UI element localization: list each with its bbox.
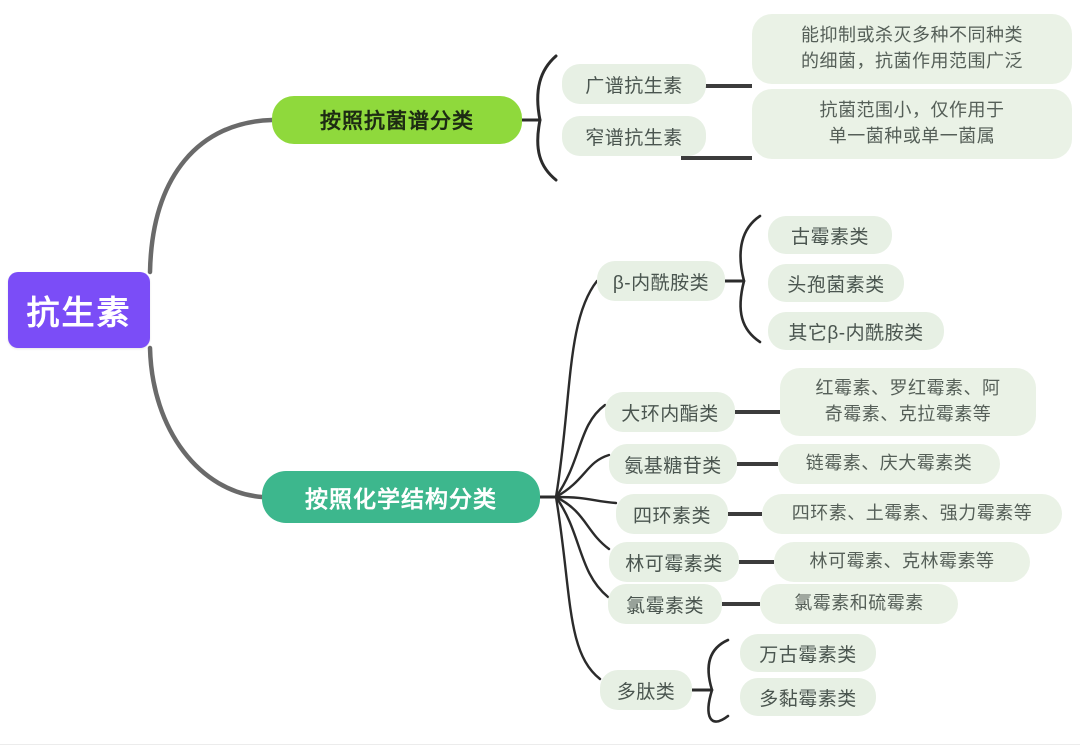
- leaf-broad-spectrum-detail[interactable]: 能抑制或杀灭多种不同种类 的细菌，抗菌作用范围广泛: [752, 14, 1072, 84]
- leaf-line: 抗菌范围小，仅作用于: [820, 98, 1005, 124]
- leaf-line: 林可霉素、克林霉素等: [810, 549, 995, 575]
- leaf-line: 氯霉素和硫霉素: [794, 591, 924, 617]
- sub-node-tetracycline[interactable]: 四环素类: [616, 494, 728, 534]
- leaf-macrolide-detail[interactable]: 红霉素、罗红霉素、阿 奇霉素、克拉霉素等: [780, 368, 1036, 436]
- branch-node-label: 按照抗菌谱分类: [320, 105, 474, 135]
- fan-to-linke: [556, 497, 609, 549]
- fan-to-lvmei: [556, 497, 608, 597]
- leaf-line: 的细菌，抗菌作用范围广泛: [801, 49, 1023, 75]
- sub-node-label: 氨基糖苷类: [624, 451, 722, 478]
- sub-node-chloramphenicol[interactable]: 氯霉素类: [608, 584, 722, 624]
- sub-node-narrow-spectrum[interactable]: 窄谱抗生素: [562, 116, 706, 156]
- branch-1-bracket-curve-top: [538, 56, 556, 120]
- leaf-label: 多黏霉素类: [759, 684, 857, 711]
- sub-node-label: 多肽类: [617, 677, 676, 704]
- leaf-polymyxin[interactable]: 多黏霉素类: [740, 678, 876, 716]
- root-node-label: 抗生素: [27, 286, 132, 334]
- sub-node-polypeptide[interactable]: 多肽类: [600, 670, 692, 710]
- sub-node-label: 大环内酯类: [621, 399, 719, 426]
- sub-node-label: 四环素类: [633, 501, 711, 528]
- beta-bracket-top: [741, 216, 760, 281]
- leaf-vancomycin[interactable]: 万古霉素类: [740, 634, 876, 672]
- leaf-toubaojunsu[interactable]: 头孢菌素类: [768, 264, 904, 302]
- leaf-line: 单一菌种或单一菌属: [829, 124, 996, 150]
- beta-bracket-bottom: [741, 281, 760, 342]
- sub-node-macrolide[interactable]: 大环内酯类: [605, 392, 735, 432]
- leaf-label: 头孢菌素类: [787, 270, 885, 297]
- fan-to-dahuan: [556, 405, 605, 497]
- root-node[interactable]: 抗生素: [8, 272, 150, 348]
- leaf-line: 链霉素、庆大霉素类: [806, 451, 973, 477]
- sub-node-label: 氯霉素类: [626, 591, 704, 618]
- leaf-line: 红霉素、罗红霉素、阿: [816, 376, 1001, 402]
- branch-node-antibacterial-spectrum[interactable]: 按照抗菌谱分类: [272, 96, 522, 144]
- leaf-line: 能抑制或杀灭多种不同种类: [801, 23, 1023, 49]
- leaf-other-beta-lactam[interactable]: 其它β-内酰胺类: [768, 312, 944, 350]
- sub-node-broad-spectrum[interactable]: 广谱抗生素: [562, 64, 706, 104]
- sub-node-label: 林可霉素类: [625, 549, 723, 576]
- leaf-chloramphenicol-detail[interactable]: 氯霉素和硫霉素: [760, 584, 958, 624]
- fan-to-duotai: [556, 497, 600, 679]
- leaf-tetracycline-detail[interactable]: 四环素、土霉素、强力霉素等: [762, 494, 1062, 534]
- leaf-label: 万古霉素类: [759, 640, 857, 667]
- branch-1-bracket-curve-bottom: [538, 120, 556, 180]
- fan-to-sihuan: [556, 497, 616, 503]
- duotai-bracket-top: [709, 640, 728, 690]
- sub-node-label: 窄谱抗生素: [585, 123, 683, 150]
- leaf-label: 其它β-内酰胺类: [788, 318, 923, 345]
- mindmap-canvas: 抗生素 按照抗菌谱分类 广谱抗生素 能抑制或杀灭多种不同种类 的细菌，抗菌作用范…: [0, 0, 1080, 745]
- sub-node-aminoglycoside[interactable]: 氨基糖苷类: [609, 444, 737, 484]
- leaf-gumeisu[interactable]: 古霉素类: [768, 216, 892, 254]
- fan-to-anji: [556, 455, 609, 497]
- leaf-line: 奇霉素、克拉霉素等: [825, 402, 992, 428]
- sub-node-lincomycin[interactable]: 林可霉素类: [609, 542, 739, 582]
- root-to-branch-2-curve: [150, 348, 262, 497]
- sub-node-label: β-内酰胺类: [613, 268, 709, 295]
- duotai-bracket-bottom: [709, 690, 728, 722]
- leaf-aminoglycoside-detail[interactable]: 链霉素、庆大霉素类: [778, 444, 1000, 484]
- branch-node-label: 按照化学结构分类: [305, 480, 497, 514]
- leaf-line: 四环素、土霉素、强力霉素等: [792, 501, 1033, 527]
- leaf-lincomycin-detail[interactable]: 林可霉素、克林霉素等: [774, 542, 1030, 582]
- fan-to-beta: [556, 281, 597, 497]
- leaf-narrow-spectrum-detail[interactable]: 抗菌范围小，仅作用于 单一菌种或单一菌属: [752, 89, 1072, 159]
- root-to-branch-1-curve: [150, 120, 272, 272]
- branch-node-chemical-structure[interactable]: 按照化学结构分类: [262, 471, 540, 523]
- sub-node-beta-lactam[interactable]: β-内酰胺类: [597, 261, 725, 301]
- sub-node-label: 广谱抗生素: [585, 71, 683, 98]
- leaf-label: 古霉素类: [791, 222, 869, 249]
